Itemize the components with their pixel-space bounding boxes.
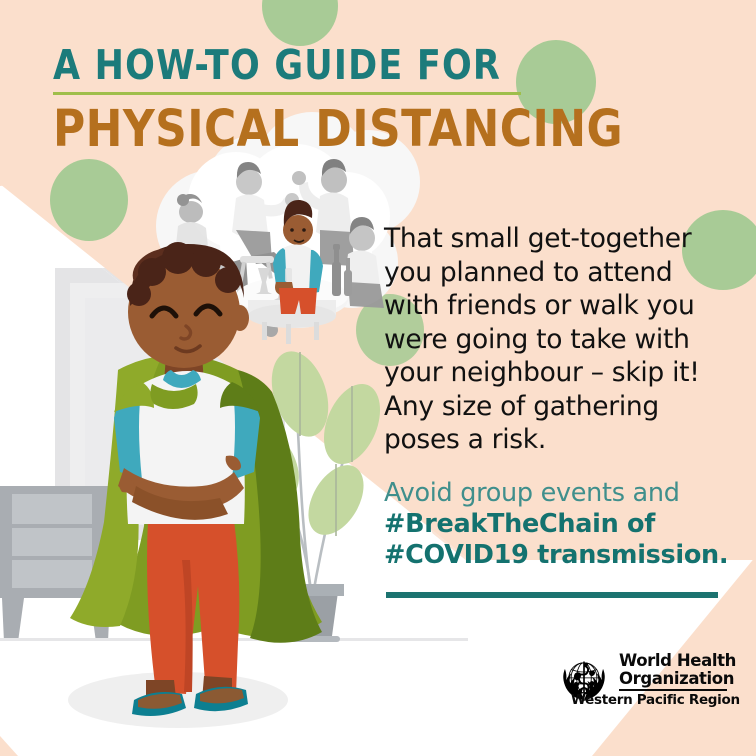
- body-line: were going to take with: [384, 323, 714, 357]
- who-wordmark: World Health Organization Western Pacifi…: [619, 651, 740, 708]
- call-to-action: Avoid group events and #BreakTheChain of…: [384, 478, 724, 571]
- trousers: [147, 520, 239, 696]
- cta-line-covid19: #COVID19 transmission.: [384, 540, 724, 571]
- body-line: poses a risk.: [384, 423, 714, 457]
- who-logo: World Health Organization Western Pacifi…: [556, 651, 728, 713]
- title-line-1: A HOW-TO GUIDE FOR: [53, 46, 613, 87]
- title-line-2: PHYSICAL DISTANCING: [53, 104, 613, 155]
- boy-head: [127, 242, 249, 368]
- title-divider-rule: [53, 92, 521, 95]
- who-name-line-2: Organization: [619, 670, 740, 688]
- cta-line-breakthechain: #BreakTheChain of: [384, 509, 724, 540]
- who-name-line-1: World Health: [619, 652, 740, 670]
- who-divider-rule: [619, 689, 727, 691]
- body-line: with friends or walk you: [384, 289, 714, 323]
- who-region-label: Western Pacific Region: [571, 693, 740, 708]
- body-line: That small get-together: [384, 222, 714, 256]
- body-line: your neighbour – skip it!: [384, 356, 714, 390]
- cta-line-avoid: Avoid group events and: [384, 478, 724, 509]
- title-block: A HOW-TO GUIDE FOR PHYSICAL DISTANCING: [53, 46, 613, 148]
- body-line: you planned to attend: [384, 256, 714, 290]
- body-copy: That small get-together you planned to a…: [384, 222, 714, 457]
- body-line: Any size of gathering: [384, 390, 714, 424]
- cta-divider-rule: [386, 592, 718, 598]
- who-physical-distancing-poster: A HOW-TO GUIDE FOR PHYSICAL DISTANCING T…: [0, 0, 756, 756]
